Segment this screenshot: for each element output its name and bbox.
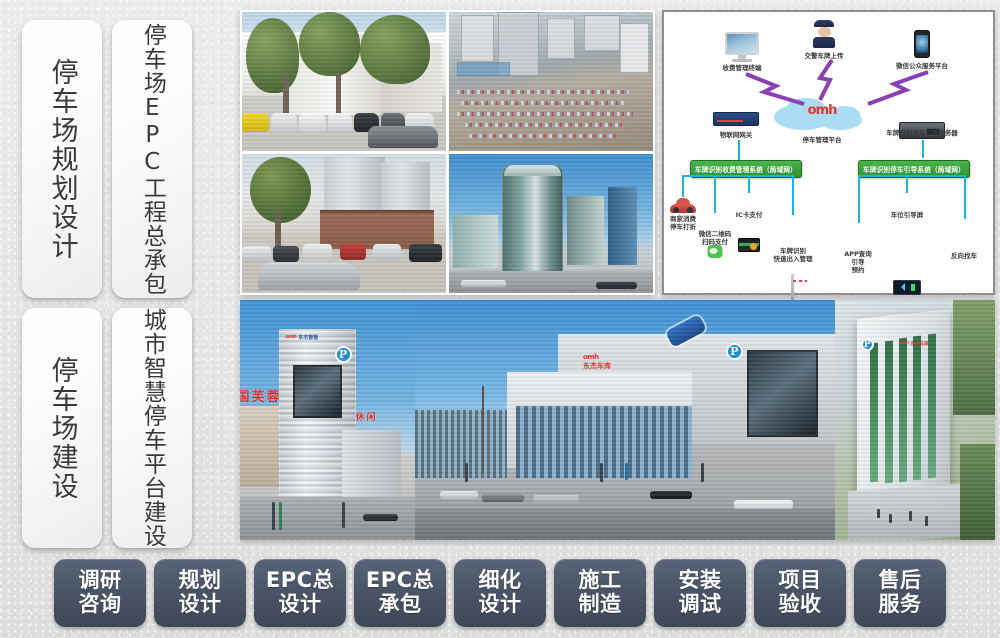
iot-gateway-icon [713,112,759,126]
step-line-2: 设计 [279,593,322,617]
step-installation-commissioning[interactable]: 安装 调试 [654,559,746,627]
branch-merchant [682,175,684,197]
step-line-2: 调试 [679,593,722,617]
photo-lot-brick-building [242,154,446,293]
link-bolt-police [814,58,844,104]
ic-card-pay-icon [738,238,760,252]
step-detailed-design[interactable]: 细化 设计 [454,559,546,627]
sidebar-card-label: 停车场规划设计 [46,58,77,261]
branch-reverse [964,175,966,219]
step-line-2: 验收 [779,593,822,617]
step-planning-design[interactable]: 规划 设计 [154,559,246,627]
branch-app [858,175,860,223]
step-research-consulting[interactable]: 调研 咨询 [54,559,146,627]
parking-system-architecture-diagram: omh 停车管理平台 收费管理终端 交警车牌上传 微信公众服务平台 物联网网关 … [662,10,995,295]
traffic-police-icon [813,20,835,48]
render-aerial-parking-tower: P omh 东杰车库 [835,300,995,540]
link-server-to-guidance-system [922,140,924,158]
space-guide-board-label: 车位引导屏 [877,211,937,219]
render-parking-badge-2: P [726,343,743,360]
step-line-1: 安装 [679,569,722,593]
ic-card-pay-label: IC卡支付 [727,211,771,219]
iot-gateway-label: 物联网网关 [701,131,771,139]
step-line-1: EPC总 [266,569,334,593]
sidebar-card-label: 停车场建设 [46,356,77,501]
render-sign-right: 休闲 [356,410,378,423]
step-line-1: EPC总 [366,569,434,593]
reverse-find-car-label: 反向找车 [938,252,990,260]
wechat-qr-pay-label: 微信二维码 扫码支付 [687,230,743,246]
branch-bus-left [682,175,794,177]
step-line-2: 承包 [379,593,422,617]
project-photo-collage [240,10,655,295]
process-steps-bar: 调研 咨询 规划 设计 EPC总 设计 EPC总 承包 细化 设计 施工 制造 … [0,548,1000,638]
step-line-1: 项目 [779,569,822,593]
step-construction-manufacturing[interactable]: 施工 制造 [554,559,646,627]
wechat-platform-icon [914,30,930,58]
step-epc-design[interactable]: EPC总 设计 [254,559,346,627]
photo-glass-office-tower [449,154,653,293]
render-brand-3: omh 东杰车库 [899,341,928,347]
architectural-render-strip: 国芙蓉 omh 东杰智能 P 休闲 omh 东杰车库 P [240,300,995,540]
sidebar-card-label: 城市智慧停车平台建设 [139,308,166,548]
step-line-2: 咨询 [79,593,122,617]
sidebar-card-parking-planning-design[interactable]: 停车场规划设计 [22,20,102,298]
render-brand-1: omh 东杰智能 [286,334,319,341]
render-omh-logo-2: omh [583,353,599,361]
render-parking-tower-street: 国芙蓉 omh 东杰智能 P 休闲 [240,300,415,540]
app-query-label: APP查询 引导 预约 [832,250,884,274]
render-brand-cn: 东杰智能 [298,334,318,341]
merchant-discount-label: 商家消费 停车打折 [658,215,708,231]
wechat-qr-pay-icon [708,245,723,258]
photo-street-parking-lot [242,12,446,151]
step-epc-contracting[interactable]: EPC总 承包 [354,559,446,627]
render-omh-logo: omh [286,334,297,340]
step-line-1: 售后 [879,569,922,593]
render-brand-cn-2: 东杰车库 [583,361,611,371]
step-line-1: 细化 [479,569,522,593]
link-gateway-to-toll-system [738,140,740,158]
branch-bus-right [858,175,966,177]
step-line-2: 制造 [579,593,622,617]
wechat-platform-label: 微信公众服务平台 [876,62,968,70]
step-line-1: 规划 [179,569,222,593]
sidebar-card-parking-epc-contracting[interactable]: 停车场EPC工程总承包 [112,20,192,298]
branch-iccard [748,175,750,193]
branch-wechat [714,175,716,213]
render-brand-cn-3: 东杰车库 [910,341,928,347]
step-after-sales-service[interactable]: 售后 服务 [854,559,946,627]
sidebar-card-label: 停车场EPC工程总承包 [139,23,166,296]
step-project-acceptance[interactable]: 项目 验收 [754,559,846,627]
render-parking-garage-facade: omh 东杰车库 P [415,300,835,540]
merchant-discount-icon [670,198,696,213]
traffic-police-label: 交警车牌上传 [784,52,864,60]
sidebar-card-parking-construction[interactable]: 停车场建设 [22,308,102,548]
cloud-platform-label: 停车管理平台 [777,136,867,144]
step-line-2: 服务 [879,593,922,617]
sidebar-card-smart-parking-platform[interactable]: 城市智慧停车平台建设 [112,308,192,548]
toll-terminal-icon [725,32,759,62]
step-line-2: 设计 [479,593,522,617]
branch-board [906,175,908,193]
service-category-sidebar: 停车场规划设计 停车场EPC工程总承包 停车场建设 城市智慧停车平台建设 [10,8,196,548]
step-line-2: 设计 [179,593,222,617]
plate-gate-label: 车牌识别 快速出入管理 [762,247,824,263]
plate-gate-icon [783,274,803,302]
toll-terminal-label: 收费管理终端 [705,64,779,72]
render-parking-badge-1: P [335,346,352,363]
photo-aerial-parking-view [449,12,653,151]
render-omh-logo-3: omh [899,341,908,346]
render-brand-2: omh 东杰车库 [583,353,611,371]
render-parking-badge-3: P [861,338,874,351]
branch-gate [792,175,794,215]
space-guide-board-icon [893,280,921,295]
step-line-1: 调研 [79,569,122,593]
guidance-server-label: 车牌识别停车引导服务器 [867,129,977,137]
step-line-1: 施工 [579,569,622,593]
render-sign-left: 国芙蓉 [240,386,282,405]
link-bolt-wechat [862,68,948,110]
